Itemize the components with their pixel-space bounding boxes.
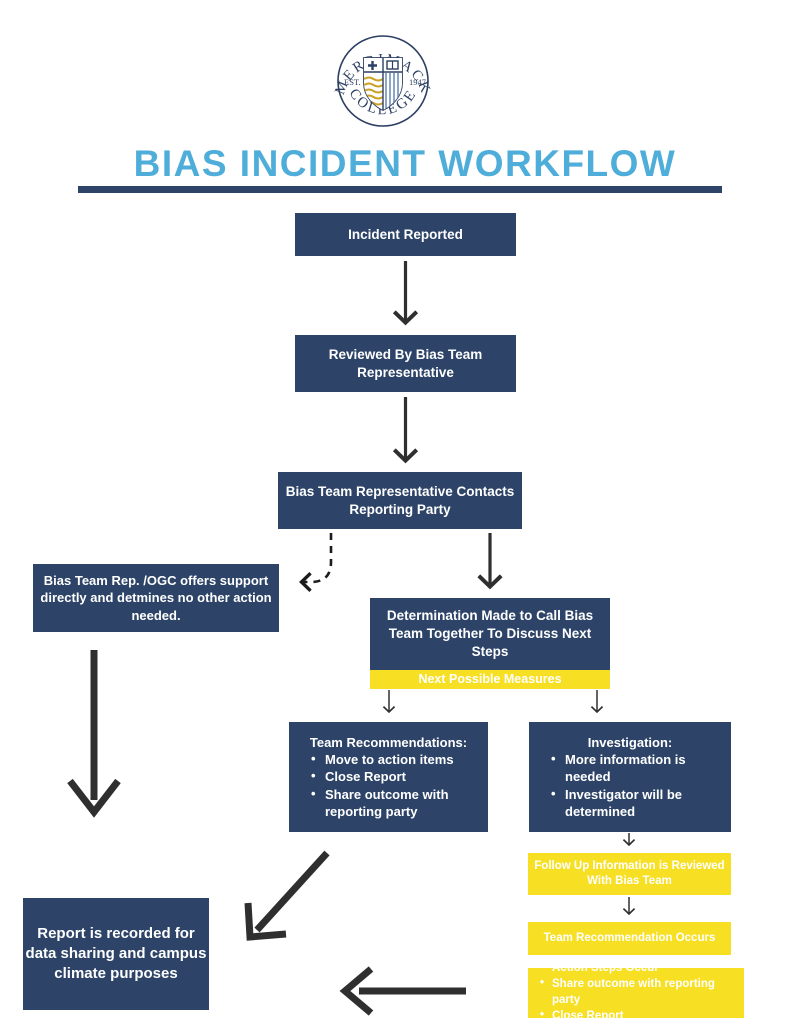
node-action-steps[interactable]: Action Steps Occur Share outcome with re… <box>528 968 744 1018</box>
list-item: Share outcome with reporting party <box>540 977 744 1009</box>
connector-contacts-to-support <box>302 533 331 582</box>
node-next-possible-measures[interactable]: Next Possible Measures <box>370 670 610 689</box>
connector-action-steps-to-report <box>345 969 466 1013</box>
node-label: Reviewed By Bias Team Representative <box>295 346 516 382</box>
list-item: More information is needed <box>551 751 731 785</box>
node-determination-made-to-call-bias-team[interactable]: Determination Made to Call Bias Team Tog… <box>370 598 610 670</box>
action-steps-bullet-list: Action Steps Occur Share outcome with re… <box>528 961 744 1024</box>
list-item: Move to action items <box>311 751 488 768</box>
list-item: Action Steps Occur <box>540 961 744 977</box>
svg-text:EST.: EST. <box>344 77 361 87</box>
node-label: Incident Reported <box>295 226 516 244</box>
node-label: Team Recommendation Occurs <box>528 931 731 946</box>
node-reviewed-by-bias-team-representative[interactable]: Reviewed By Bias Team Representative <box>295 335 516 392</box>
node-label: Follow Up Information is Reviewed With B… <box>528 859 731 889</box>
list-item: Close Report <box>540 1009 744 1025</box>
node-heading: Team Recommendations: <box>289 734 488 751</box>
node-label: Bias Team Rep. /OGC offers support direc… <box>33 572 279 623</box>
node-label: Bias Team Representative Contacts Report… <box>278 483 522 519</box>
merrimack-college-logo: MERRIMACK COLLEGE EST. 1947 <box>331 25 435 137</box>
node-incident-reported[interactable]: Incident Reported <box>295 213 516 256</box>
svg-text:1947: 1947 <box>409 77 426 87</box>
list-item: Close Report <box>311 768 488 785</box>
node-label: Report is recorded for data sharing and … <box>23 924 209 983</box>
node-report-is-recorded[interactable]: Report is recorded for data sharing and … <box>23 898 209 1010</box>
list-item: Share outcome with reporting party <box>311 786 488 820</box>
connector-support-to-report <box>70 650 118 812</box>
node-team-recommendations[interactable]: Team Recommendations: Move to action ite… <box>289 722 488 832</box>
list-item: Investigator will be determined <box>551 786 731 820</box>
title-underline-rule <box>78 186 722 193</box>
bias-incident-workflow-diagram: MERRIMACK COLLEGE EST. 1947 <box>0 0 800 1035</box>
connector-team-recommendations-to-report <box>248 853 327 937</box>
team-recommendations-bullet-list: Move to action items Close Report Share … <box>289 751 488 820</box>
node-bias-team-rep-ogc-offers-support[interactable]: Bias Team Rep. /OGC offers support direc… <box>33 564 279 632</box>
page-title: BIAS INCIDENT WORKFLOW <box>60 143 750 185</box>
investigation-bullet-list: More information is needed Investigator … <box>529 751 731 820</box>
node-team-recommendation-occurs[interactable]: Team Recommendation Occurs <box>528 922 731 955</box>
node-follow-up-information-reviewed[interactable]: Follow Up Information is Reviewed With B… <box>528 853 731 895</box>
node-label: Next Possible Measures <box>370 671 610 688</box>
node-heading: Investigation: <box>529 734 731 751</box>
node-label: Determination Made to Call Bias Team Tog… <box>370 607 610 660</box>
node-bias-team-representative-contacts-reporting-party[interactable]: Bias Team Representative Contacts Report… <box>278 472 522 529</box>
node-investigation[interactable]: Investigation: More information is neede… <box>529 722 731 832</box>
